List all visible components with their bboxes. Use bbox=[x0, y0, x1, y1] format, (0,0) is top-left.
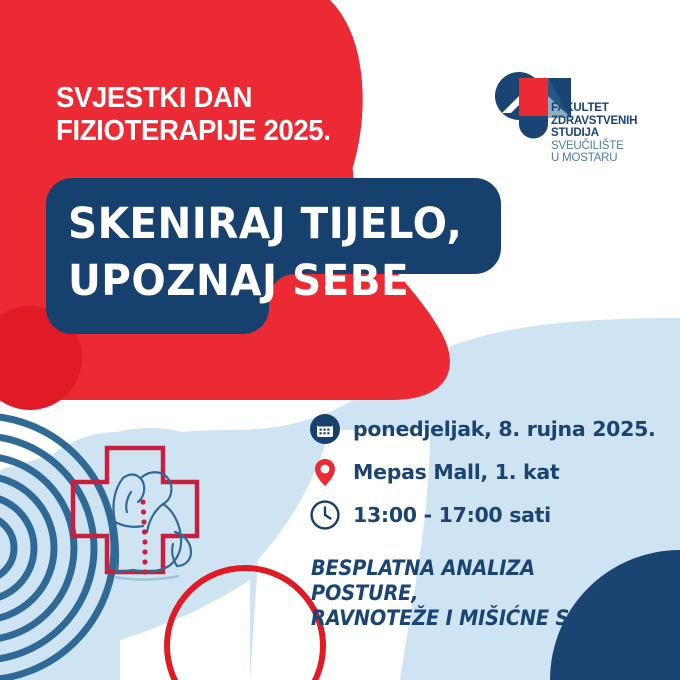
logo-line-2: ZDRAVSTVENIH bbox=[551, 115, 656, 128]
detail-time-text: 13:00 - 17:00 sati bbox=[353, 503, 551, 527]
tagline-line-1: BESPLATNA ANALIZA POSTURE, bbox=[311, 556, 633, 606]
tagline-line-2: RAVNOTEŽE I MIŠIĆNE SNAGE bbox=[311, 606, 633, 631]
logo-line-5: U MOSTARU bbox=[551, 152, 656, 165]
kicker-line-2: FIZIOTERAPIJE 2025. bbox=[56, 115, 436, 148]
detail-date-text: ponedjeljak, 8. rujna 2025. bbox=[353, 417, 656, 441]
logo-line-3: STUDIJA bbox=[551, 127, 656, 140]
clock-icon bbox=[308, 498, 342, 532]
headline-line-1: SKENIRAJ TIJELO, bbox=[68, 196, 472, 253]
detail-row-date: ponedjeljak, 8. rujna 2025. bbox=[308, 410, 658, 448]
headline-line-2: UPOZNAJ SEBE bbox=[68, 253, 472, 310]
poster-canvas: SVJESTKI DAN FIZIOTERAPIJE 2025. FAKULTE… bbox=[0, 0, 680, 680]
logo-line-1: FAKULTET bbox=[551, 102, 656, 115]
spine-dots bbox=[140, 499, 147, 574]
kicker-line-1: SVJESTKI DAN bbox=[56, 82, 436, 115]
location-pin-icon bbox=[308, 455, 342, 489]
detail-row-location: Mepas Mall, 1. kat bbox=[308, 453, 658, 491]
event-details: ponedjeljak, 8. rujna 2025. Mepas Mall, … bbox=[308, 410, 658, 539]
detail-location-text: Mepas Mall, 1. kat bbox=[353, 460, 559, 484]
calendar-icon bbox=[308, 412, 342, 446]
detail-row-time: 13:00 - 17:00 sati bbox=[308, 496, 658, 534]
sum-logo: FAKULTET ZDRAVSTVENIH STUDIJA SVEUČILIŠT… bbox=[489, 66, 654, 171]
logo-line-4: SVEUČILIŠTE bbox=[551, 140, 656, 153]
tagline: BESPLATNA ANALIZA POSTURE, RAVNOTEŽE I M… bbox=[311, 556, 661, 631]
posture-spine-cross-illustration bbox=[45, 440, 245, 615]
logo-wordmark: FAKULTET ZDRAVSTVENIH STUDIJA SVEUČILIŠT… bbox=[551, 102, 656, 165]
kicker-heading: SVJESTKI DAN FIZIOTERAPIJE 2025. bbox=[56, 82, 456, 148]
headline-text: SKENIRAJ TIJELO, UPOZNAJ SEBE bbox=[68, 196, 498, 310]
figure-shadow bbox=[115, 576, 179, 580]
